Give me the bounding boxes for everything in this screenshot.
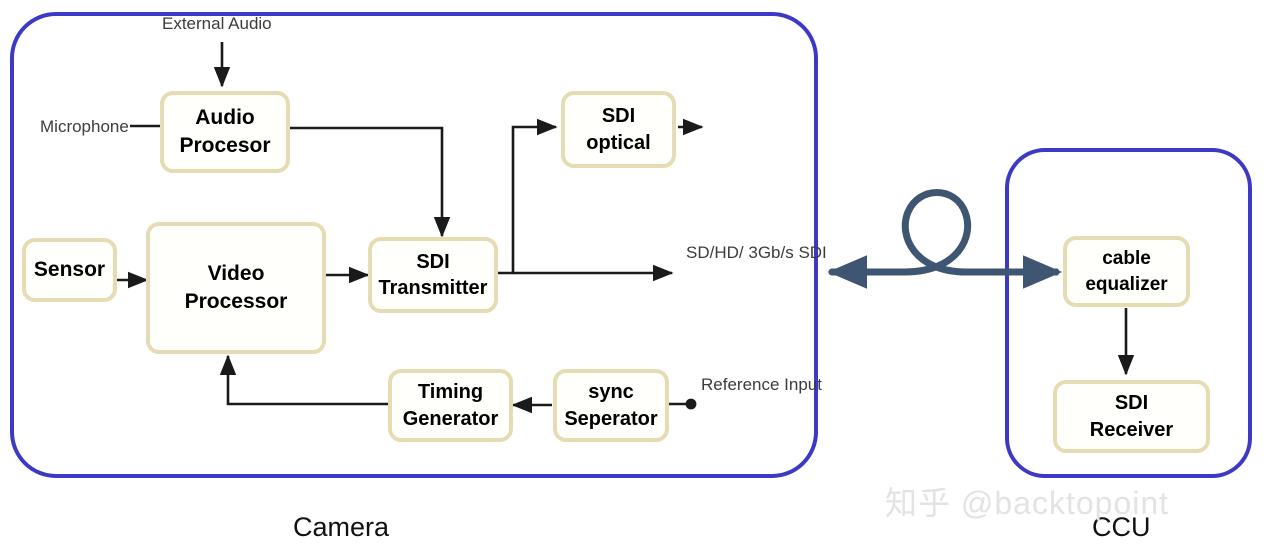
- block-cable-equalizer-line2: equalizer: [1085, 272, 1167, 297]
- label-microphone: Microphone: [40, 116, 129, 137]
- label-external-audio-text: External Audio: [162, 14, 272, 33]
- arrow-sdi-transmitter-to-sdi-optical: [497, 127, 556, 273]
- label-sdi-output: SD/HD/ 3Gb/s SDI: [686, 242, 827, 263]
- block-video-processor[interactable]: Video Processor: [146, 222, 326, 354]
- block-cable-equalizer[interactable]: cable equalizer: [1063, 236, 1190, 307]
- block-sensor[interactable]: Sensor: [22, 238, 117, 302]
- block-audio-processor-line2: Procesor: [179, 132, 270, 160]
- block-cable-equalizer-line1: cable: [1102, 246, 1151, 271]
- block-audio-processor-line1: Audio: [195, 104, 254, 132]
- block-sync-separator-line1: sync: [588, 379, 634, 405]
- label-microphone-text: Microphone: [40, 117, 129, 136]
- block-timing-generator[interactable]: Timing Generator: [388, 369, 513, 442]
- block-sdi-receiver[interactable]: SDI Receiver: [1053, 380, 1210, 453]
- label-reference-input-line1: Reference: [701, 375, 779, 394]
- label-sdi-output-line1: SD/HD/: [686, 243, 744, 262]
- label-sdi-output-line2: 3Gb/s SDI: [748, 243, 826, 262]
- block-sdi-optical-line1: SDI: [602, 103, 635, 129]
- label-reference-input-line2: Input: [784, 375, 822, 394]
- block-video-processor-line2: Processor: [185, 288, 288, 316]
- block-sdi-optical-line2: optical: [586, 130, 650, 156]
- block-sdi-optical[interactable]: SDI optical: [561, 91, 676, 168]
- block-sensor-line1: Sensor: [34, 256, 105, 284]
- diagram-canvas: Sensor Video Processor Audio Procesor SD…: [0, 0, 1265, 552]
- reference-input-terminal-dot: [686, 399, 697, 410]
- cable-camera-to-ccu-loop: [832, 193, 1056, 273]
- block-timing-generator-line2: Generator: [403, 406, 499, 432]
- block-video-processor-line1: Video: [208, 260, 265, 288]
- block-sdi-receiver-line2: Receiver: [1090, 417, 1173, 443]
- block-sdi-receiver-line1: SDI: [1115, 390, 1148, 416]
- group-camera-label-text: Camera: [293, 512, 389, 542]
- label-external-audio: External Audio: [162, 13, 272, 34]
- block-sync-separator[interactable]: sync Seperator: [553, 369, 669, 442]
- block-audio-processor[interactable]: Audio Procesor: [160, 91, 290, 173]
- zhihu-watermark: 知乎 @backtopoint: [885, 478, 1169, 524]
- block-sync-separator-line2: Seperator: [564, 406, 657, 432]
- zhihu-watermark-text: 知乎 @backtopoint: [885, 485, 1169, 521]
- block-sdi-transmitter-line2: Transmitter: [379, 275, 488, 301]
- label-reference-input: Reference Input: [701, 374, 822, 395]
- group-camera-label: Camera: [293, 512, 389, 543]
- block-timing-generator-line1: Timing: [418, 379, 483, 405]
- block-sdi-transmitter-line1: SDI: [416, 249, 449, 275]
- arrow-timing-generator-to-video-processor: [228, 356, 389, 404]
- arrow-audio-processor-to-sdi-transmitter: [289, 128, 442, 236]
- block-sdi-transmitter[interactable]: SDI Transmitter: [368, 237, 498, 313]
